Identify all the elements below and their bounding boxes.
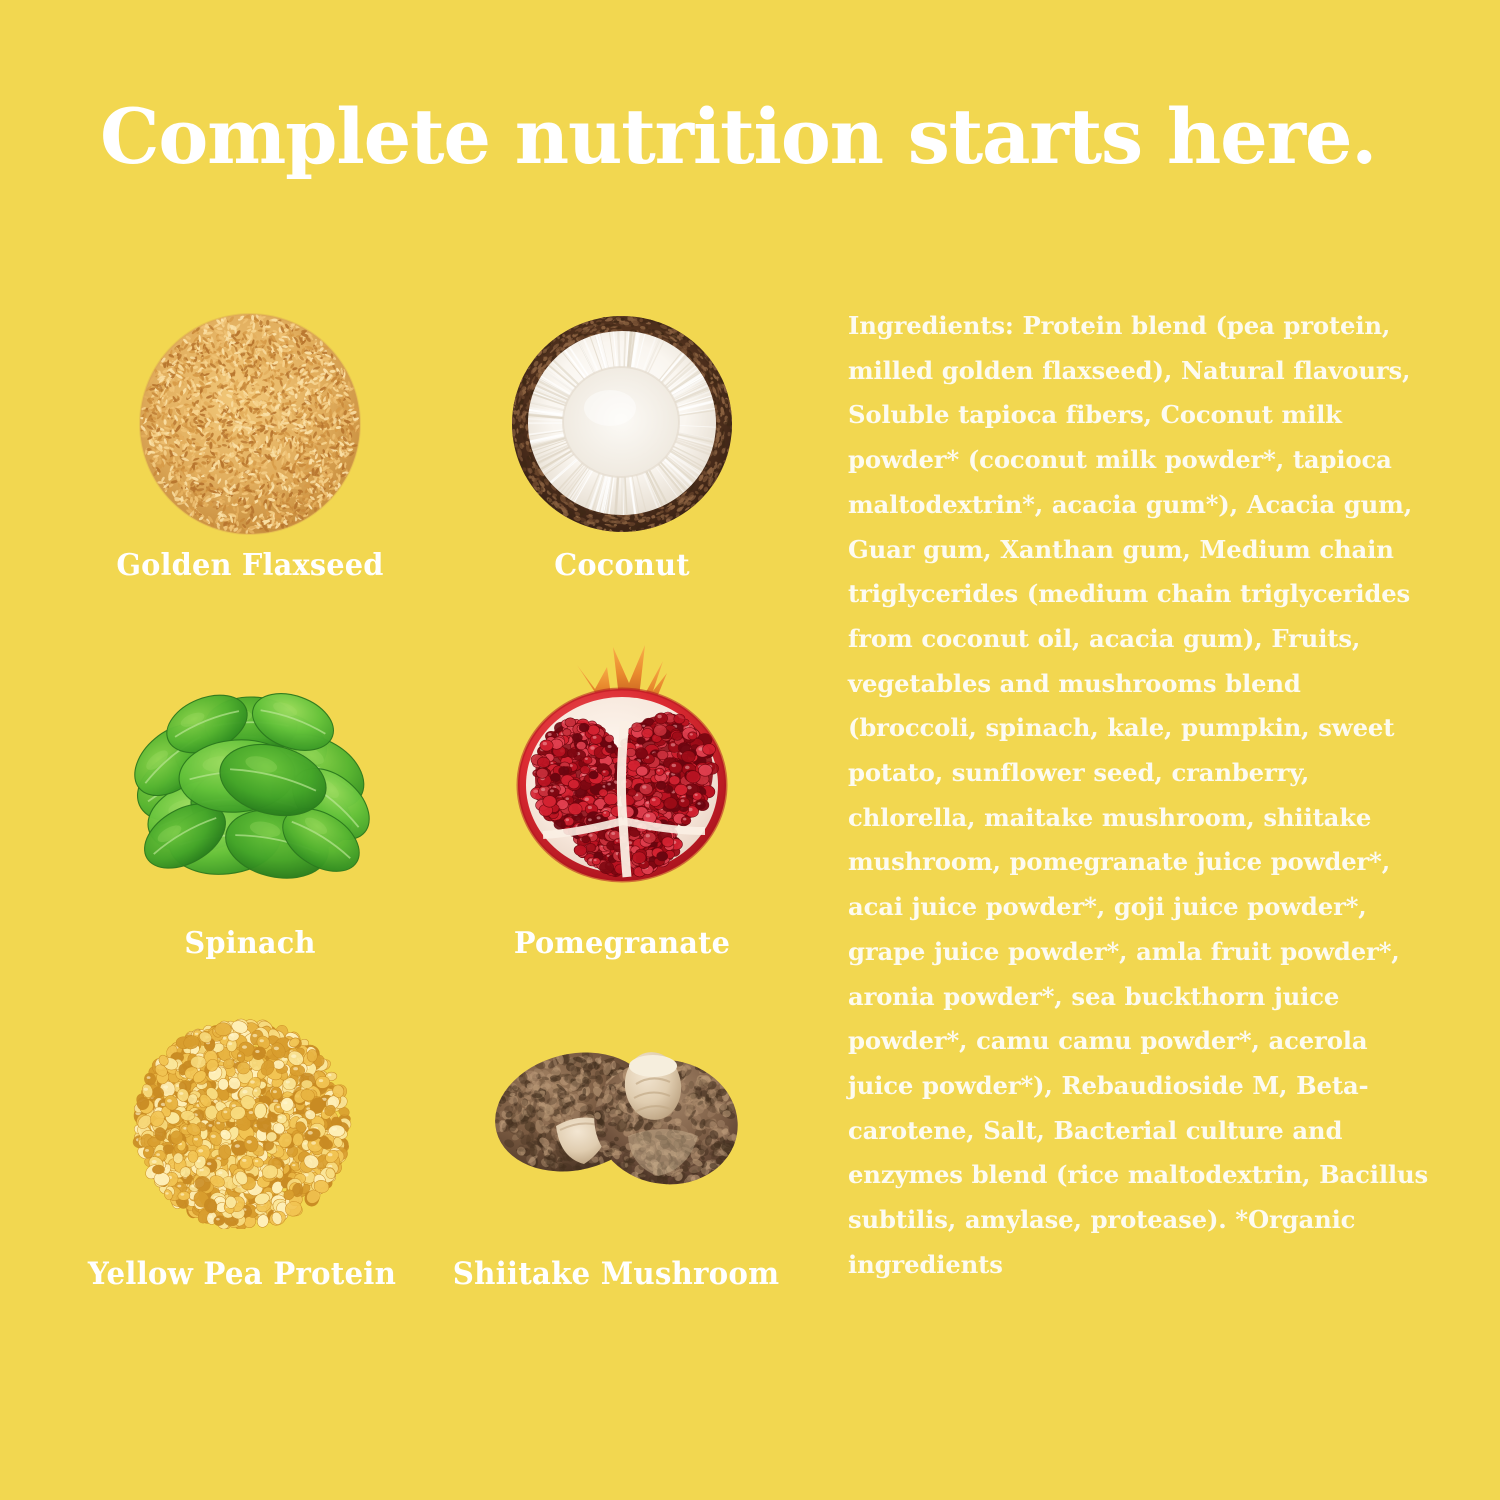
page-title: Complete nutrition starts here.: [100, 98, 1410, 176]
ingredient-card-yellow-pea-protein: Yellow Pea Protein: [52, 984, 432, 1328]
coconut-half-illustration: [432, 290, 812, 558]
ingredient-card-spinach: Spinach: [60, 638, 440, 982]
product-detail-image: Complete nutrition starts here.: [0, 0, 1500, 1500]
ingredient-card-golden-flaxseed: Golden Flaxseed: [60, 290, 440, 634]
ingredients-heading: Ingredients:: [848, 311, 1014, 340]
flaxseed-pile-illustration: [60, 290, 440, 558]
ingredients-panel: Ingredients: Protein blend (pea protein,…: [848, 304, 1436, 1287]
spinach-leaves-illustration: [60, 638, 440, 906]
ingredient-label-golden-flaxseed: Golden Flaxseed: [68, 548, 433, 583]
ingredient-card-pomegranate: Pomegranate: [432, 622, 812, 966]
ingredient-label-spinach: Spinach: [68, 926, 433, 961]
ingredients-body: Protein blend (pea protein, milled golde…: [848, 311, 1428, 1234]
yellow-split-pea-pile-illustration: [52, 984, 432, 1252]
ingredient-label-shiitake-mushroom: Shiitake Mushroom: [434, 1256, 799, 1292]
ingredient-label-yellow-pea-protein: Yellow Pea Protein: [60, 1256, 425, 1292]
shiitake-mushroom-illustration: [426, 984, 806, 1252]
ingredient-card-shiitake-mushroom: Shiitake Mushroom: [426, 984, 806, 1328]
ingredients-paragraph: Ingredients: Protein blend (pea protein,…: [848, 304, 1436, 1287]
ingredient-card-coconut: Coconut: [432, 290, 812, 634]
ingredient-label-pomegranate: Pomegranate: [440, 926, 805, 961]
pomegranate-half-illustration: [432, 622, 812, 890]
ingredient-label-coconut: Coconut: [440, 548, 805, 583]
ingredient-grid: Golden Flaxseed: [60, 290, 820, 1320]
